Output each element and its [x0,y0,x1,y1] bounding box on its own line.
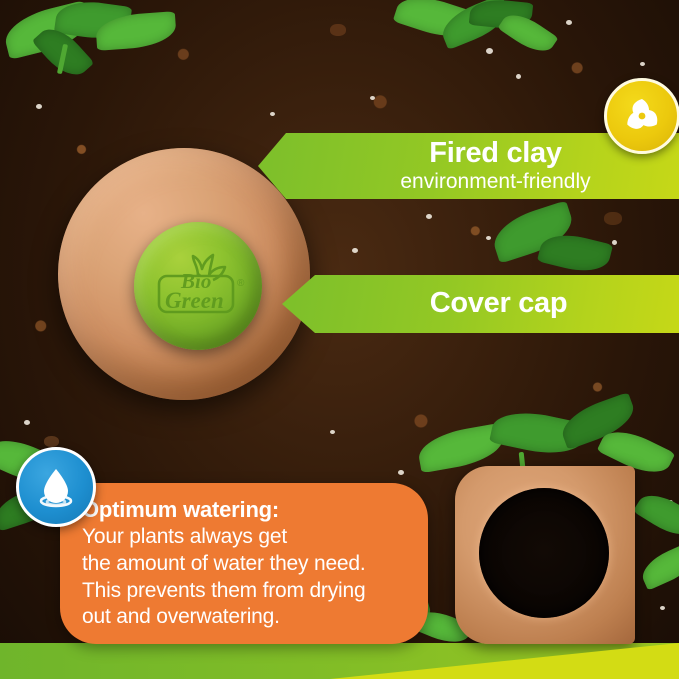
pot-opening [479,488,609,618]
perlite-speck [486,236,491,240]
eco-leaf-trio-icon [604,78,679,154]
svg-text:Green: Green [165,288,224,313]
perlite-speck [270,112,275,116]
soil-grain [604,212,622,225]
feature-box-line-1: Your plants always get [82,524,412,551]
perlite-speck [426,214,432,219]
inset-photo-pot-mouth [455,466,635,644]
feature-box-heading: Optimum watering: [82,497,412,524]
water-drop-icon [16,447,96,527]
feature-box-line-3: This prevents them from drying [82,578,412,605]
perlite-speck [24,420,30,425]
infographic-canvas: Bio Green ® Fired clay environment-frien… [0,0,679,679]
cover-cap-disc: Bio Green ® [134,222,262,350]
callout-band-cover-cap[interactable]: Cover cap [282,275,679,333]
perlite-speck [398,470,404,475]
perlite-speck [370,96,375,100]
soil-grain [44,436,59,447]
perlite-speck [566,20,572,25]
feature-box-line-4: out and overwatering. [82,604,412,631]
feature-box-line-2: the amount of water they need. [82,551,412,578]
bio-green-logo-emboss: Bio Green ® [134,222,262,350]
perlite-speck [330,430,335,434]
perlite-speck [640,62,645,66]
soil-grain [330,24,346,36]
perlite-speck [516,74,521,79]
perlite-speck [486,48,493,54]
registered-mark: ® [237,278,245,289]
perlite-speck [612,240,617,245]
perlite-speck [352,248,358,253]
perlite-speck [660,606,665,610]
callout-title-cover-cap: Cover cap [322,289,675,319]
callout-subtitle-fired-clay: environment-friendly [298,171,679,193]
perlite-speck [36,104,42,109]
optimum-watering-box[interactable]: Optimum watering: Your plants always get… [60,483,428,644]
